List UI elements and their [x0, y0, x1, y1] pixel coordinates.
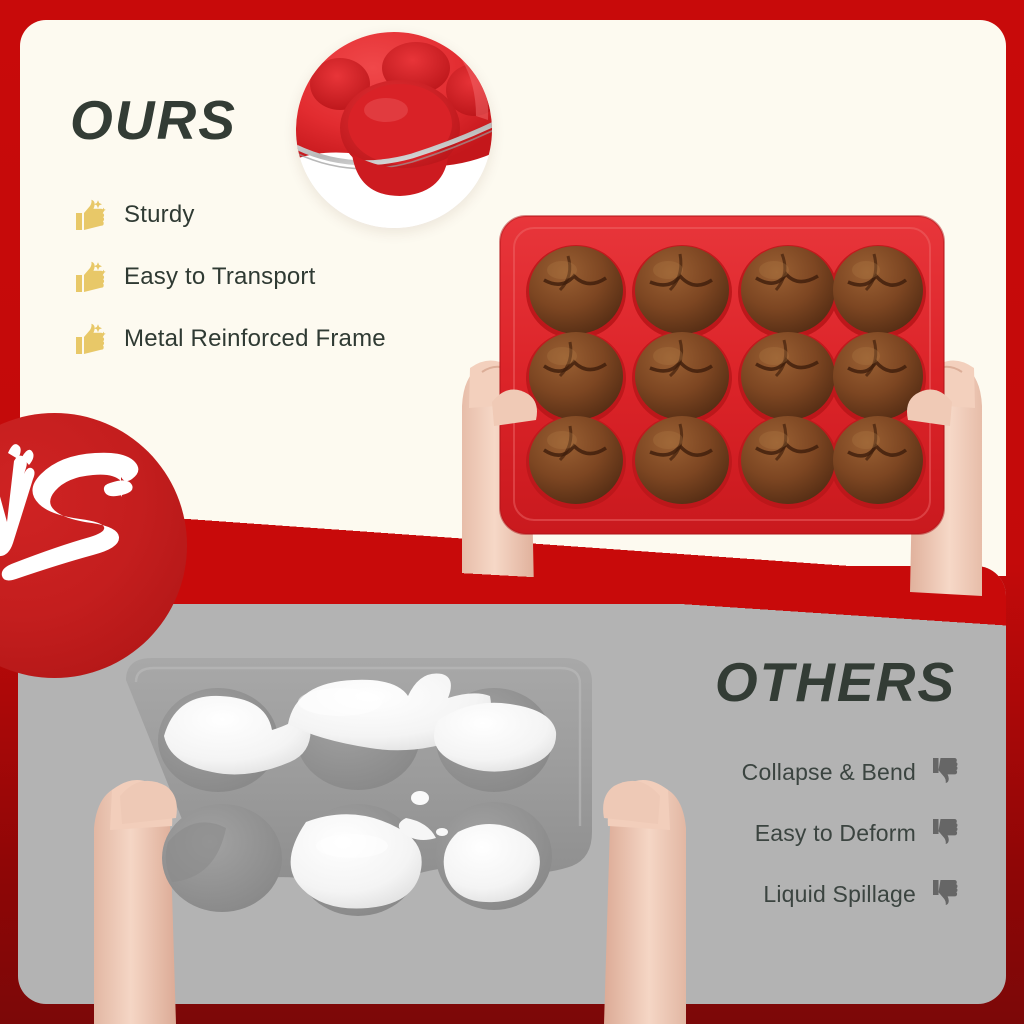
- ours-closeup-inset: [296, 32, 492, 228]
- list-item: Metal Reinforced Frame: [74, 321, 386, 357]
- list-item-label: Sturdy: [124, 201, 195, 229]
- thumbs-down-icon: [932, 818, 962, 848]
- closeup-circle-detail: [296, 32, 492, 228]
- thumbs-up-sparkle-icon: [74, 323, 106, 356]
- red-silicone-muffin-pan-with-muffins: [452, 196, 992, 596]
- list-item-label: Easy to Deform: [755, 820, 916, 847]
- list-item-label: Easy to Transport: [124, 263, 316, 291]
- others-product-photo: [90, 632, 690, 1024]
- thumbs-up-sparkle-icon: [74, 261, 106, 294]
- others-feature-list: Collapse & Bend Easy to Deform Liquid Sp…: [742, 755, 962, 938]
- ours-product-photo: [452, 196, 992, 596]
- thumbs-up-sparkle-icon: [74, 199, 106, 232]
- list-item: Easy to Transport: [74, 259, 386, 295]
- list-item-label: Collapse & Bend: [742, 759, 916, 786]
- vs-badge: [0, 413, 187, 678]
- gray-silicone-pan-spilling-batter: [90, 632, 690, 1024]
- ours-feature-list: Sturdy Easy to Transport: [74, 197, 386, 383]
- vs-brush-badge: [0, 413, 187, 678]
- list-item-label: Metal Reinforced Frame: [124, 325, 386, 353]
- list-item: Liquid Spillage: [742, 877, 962, 911]
- chocolate-muffins: [529, 246, 923, 504]
- ours-title: OURS: [70, 88, 237, 152]
- others-title: OTHERS: [715, 650, 956, 714]
- list-item: Collapse & Bend: [742, 755, 962, 789]
- list-item: Easy to Deform: [742, 816, 962, 850]
- list-item-label: Liquid Spillage: [763, 881, 916, 908]
- thumbs-down-icon: [932, 879, 962, 909]
- comparison-infographic: OURS Sturdy Ea: [0, 0, 1024, 1024]
- thumbs-down-icon: [932, 757, 962, 787]
